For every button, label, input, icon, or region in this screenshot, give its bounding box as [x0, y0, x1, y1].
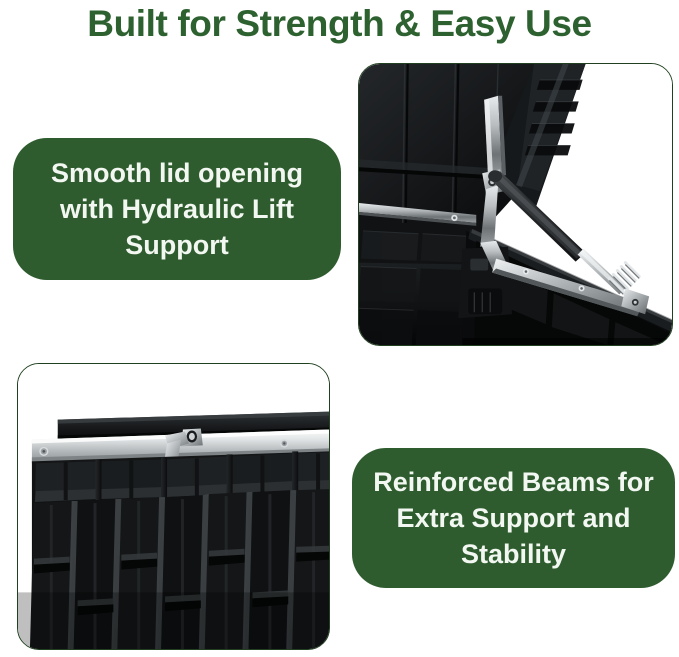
callout-reinforced-beams-label: Reinforced Beams for Extra Support and S… — [366, 464, 661, 572]
callout-hydraulic-lift: Smooth lid opening with Hydraulic Lift S… — [13, 138, 341, 280]
page-title: Built for Strength & Easy Use — [0, 2, 679, 46]
product-photo-reinforced-beams — [17, 363, 330, 650]
hydraulic-lift-illustration — [359, 64, 672, 345]
callout-hydraulic-lift-label: Smooth lid opening with Hydraulic Lift S… — [27, 155, 327, 263]
product-photo-hydraulic-lift — [358, 63, 673, 346]
callout-reinforced-beams: Reinforced Beams for Extra Support and S… — [352, 448, 675, 588]
reinforced-beams-illustration — [18, 364, 329, 649]
